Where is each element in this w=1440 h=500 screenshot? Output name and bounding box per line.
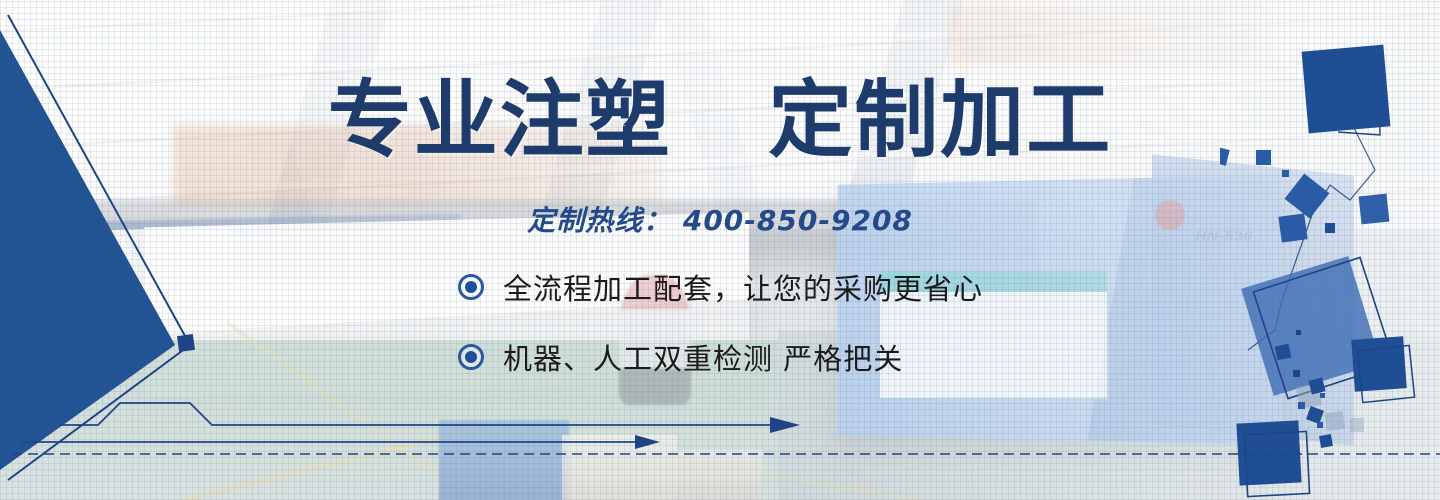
hotline-text: 定制热线： 400-850-9208 bbox=[0, 199, 1440, 239]
list-item: 机器、人工双重检测 严格把关 bbox=[458, 336, 983, 378]
banner-title: 专业注塑 定制加工 bbox=[0, 78, 1440, 162]
title-part-2: 定制加工 bbox=[768, 71, 1112, 169]
radio-dot-icon bbox=[458, 344, 484, 370]
promo-banner: HN-530 bbox=[0, 0, 1440, 500]
feature-bullet-list: 全流程加工配套，让您的采购更省心 机器、人工双重检测 严格把关 bbox=[458, 266, 983, 378]
hotline-label: 定制热线： bbox=[527, 204, 672, 237]
radio-dot-icon bbox=[458, 274, 484, 300]
list-item: 全流程加工配套，让您的采购更省心 bbox=[458, 266, 983, 308]
bullet-label: 全流程加工配套，让您的采购更省心 bbox=[503, 266, 983, 308]
title-part-1: 专业注塑 bbox=[328, 71, 672, 169]
banner-content: 专业注塑 定制加工 定制热线： 400-850-9208 全流程加工配套，让您的… bbox=[0, 0, 1440, 500]
hotline-number: 400-850-9208 bbox=[683, 204, 913, 237]
bullet-label: 机器、人工双重检测 严格把关 bbox=[503, 336, 903, 378]
